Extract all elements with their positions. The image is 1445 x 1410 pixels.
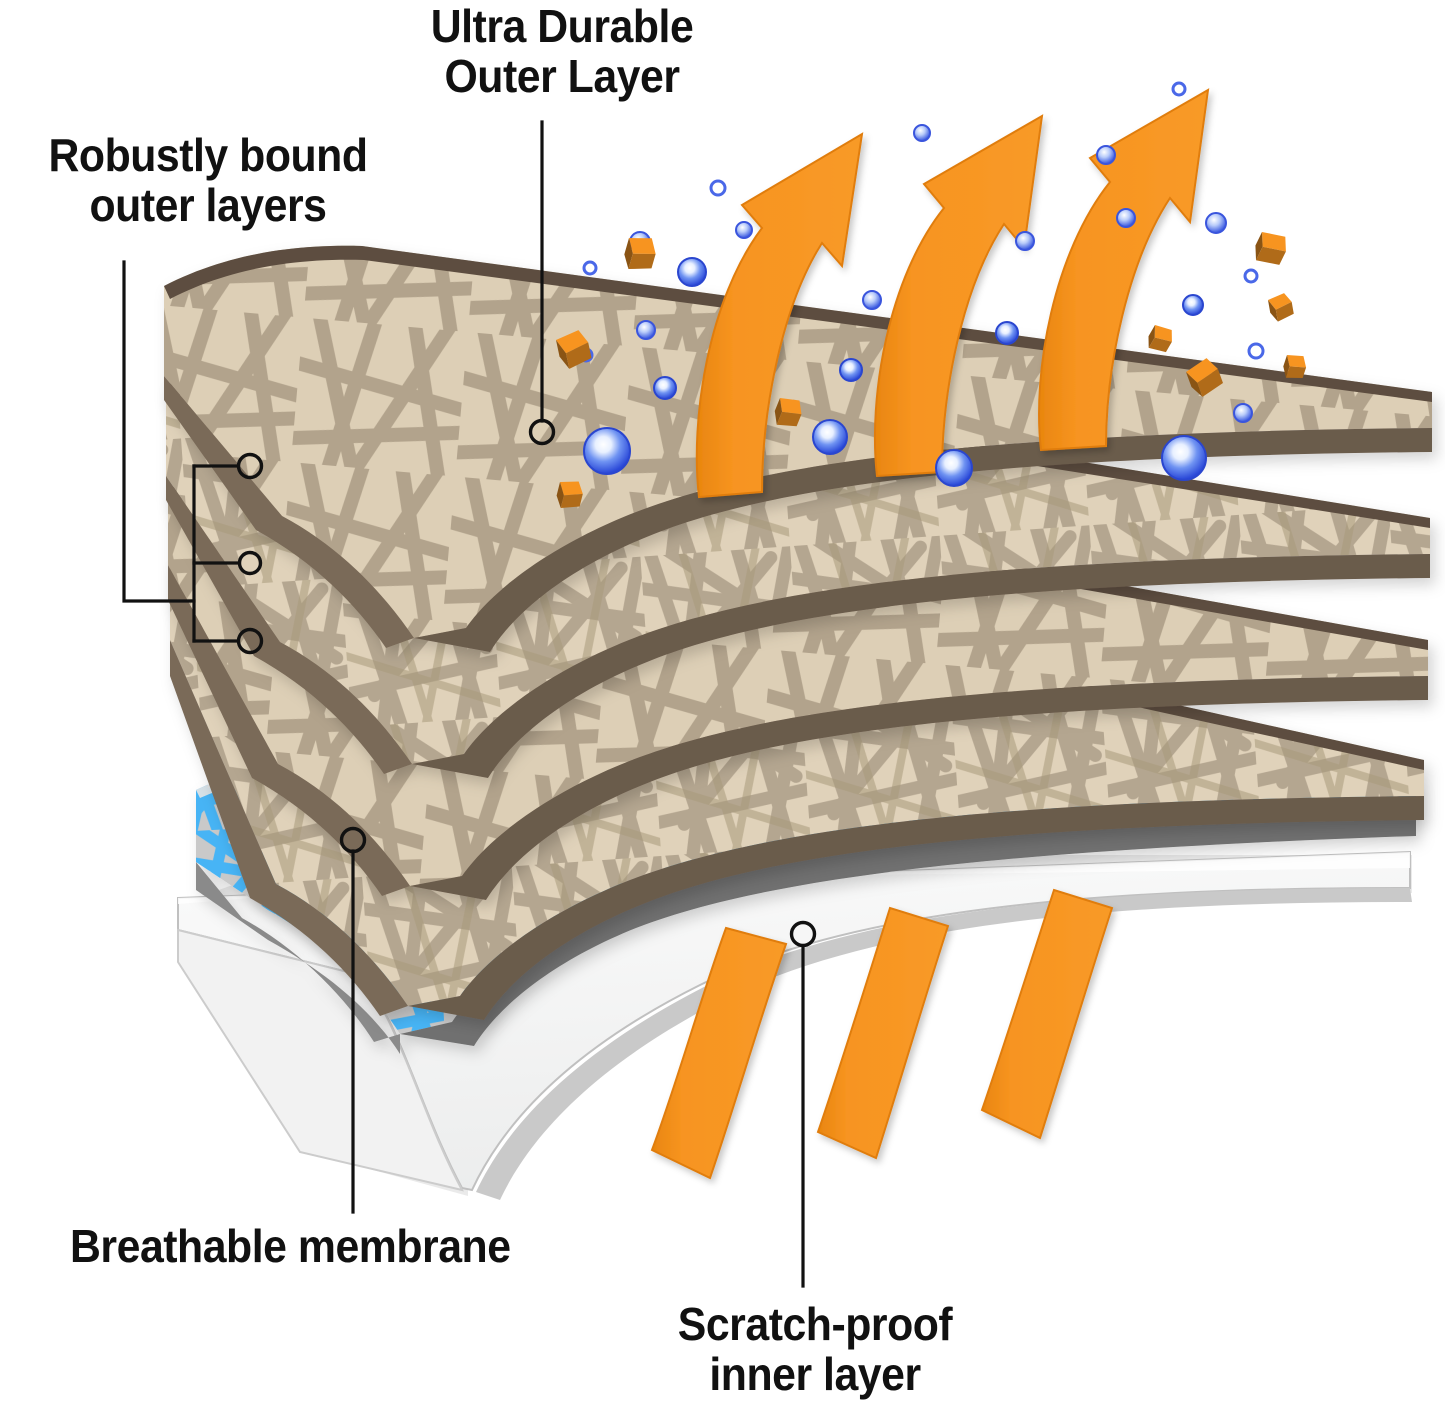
diagram-canvas: Ultra Durable Outer Layer Robustly bound… — [0, 0, 1445, 1410]
label-robustly-bound-outer-layers: Robustly bound outer layers — [22, 131, 394, 230]
dirt-cube — [621, 232, 660, 275]
label-breathable-membrane: Breathable membrane — [70, 1222, 609, 1272]
dirt-cube — [1144, 322, 1177, 357]
leader-scratch-proof — [792, 923, 815, 1287]
dirt-cube — [1267, 292, 1294, 323]
label-ultra-durable-outer-layer: Ultra Durable Outer Layer — [395, 2, 730, 101]
label-scratch-proof-inner-layer: Scratch-proof inner layer — [634, 1300, 997, 1399]
dirt-cube — [1250, 227, 1292, 271]
